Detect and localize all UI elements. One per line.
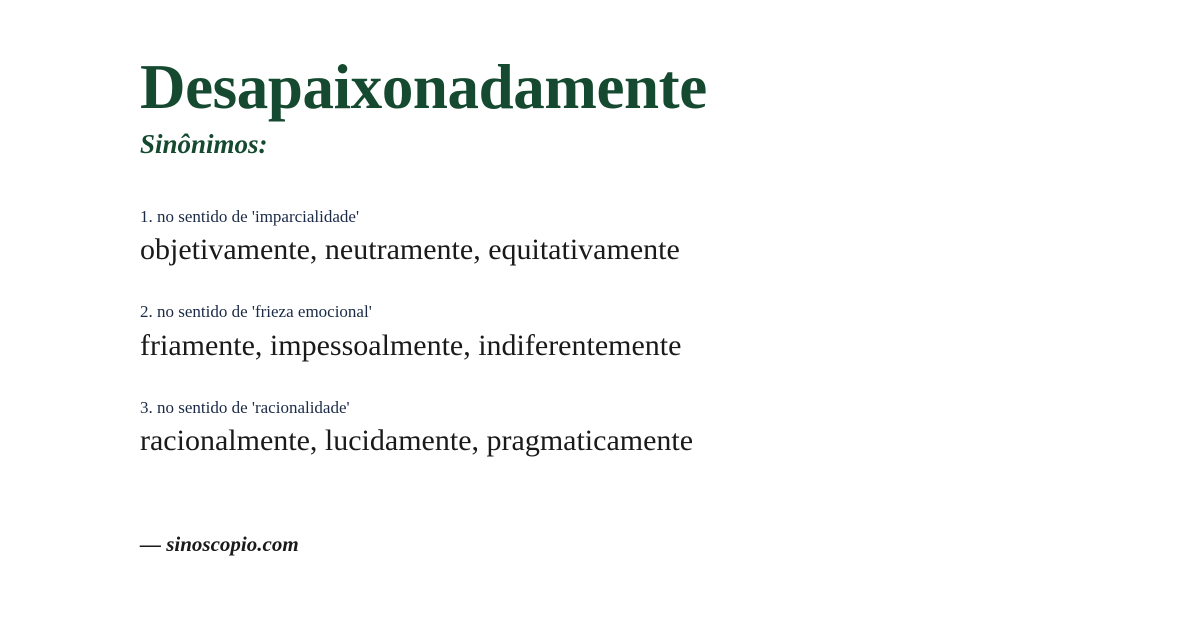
sense-block: 3. no sentido de 'racionalidade' raciona… bbox=[140, 397, 1080, 460]
sense-list: 1. no sentido de 'imparcialidade' objeti… bbox=[140, 206, 1080, 460]
source-attribution: — sinoscopio.com bbox=[140, 534, 299, 555]
sense-synonyms: objetivamente, neutramente, equitativame… bbox=[140, 230, 1080, 269]
sense-label: 1. no sentido de 'imparcialidade' bbox=[140, 206, 1080, 228]
sense-synonyms: racionalmente, lucidamente, pragmaticame… bbox=[140, 421, 1080, 460]
sense-synonyms: friamente, impessoalmente, indiferenteme… bbox=[140, 326, 1080, 365]
sense-block: 1. no sentido de 'imparcialidade' objeti… bbox=[140, 206, 1080, 269]
sense-label: 3. no sentido de 'racionalidade' bbox=[140, 397, 1080, 419]
sense-label: 2. no sentido de 'frieza emocional' bbox=[140, 301, 1080, 323]
synonym-card: Desapaixonadamente Sinônimos: 1. no sent… bbox=[0, 0, 1200, 628]
page-title: Desapaixonadamente bbox=[140, 56, 707, 119]
subtitle-synonyms: Sinônimos: bbox=[140, 131, 268, 158]
sense-block: 2. no sentido de 'frieza emocional' fria… bbox=[140, 301, 1080, 364]
